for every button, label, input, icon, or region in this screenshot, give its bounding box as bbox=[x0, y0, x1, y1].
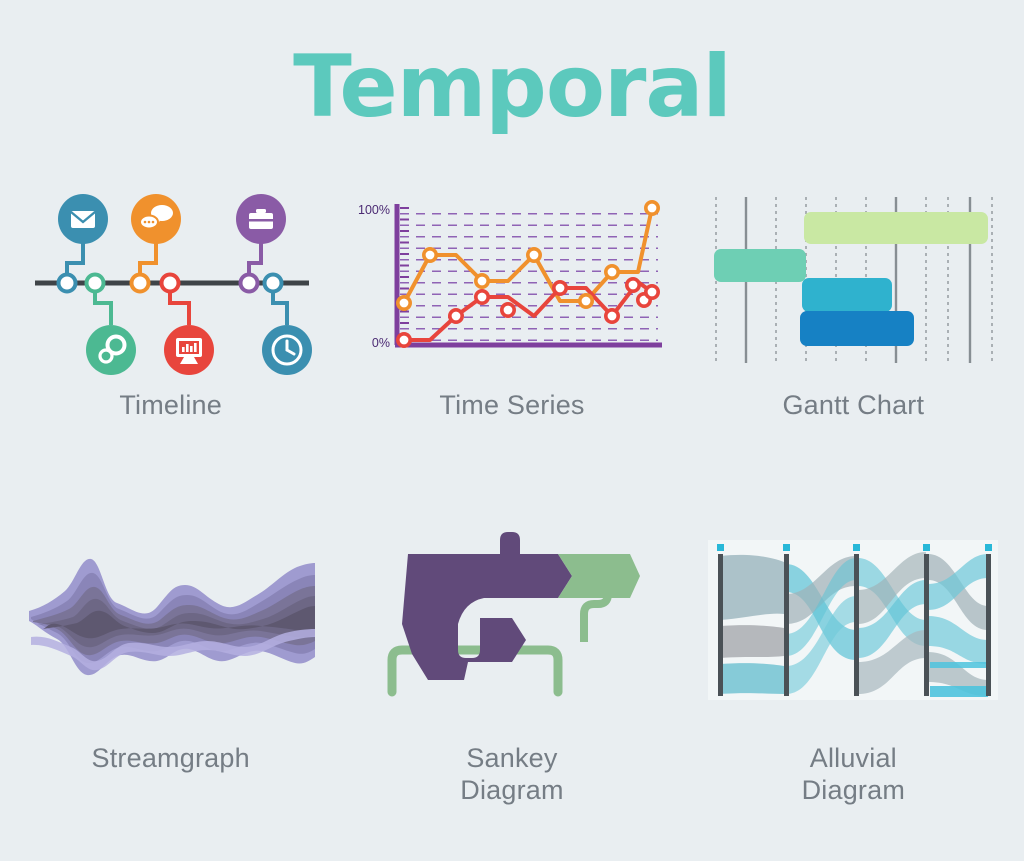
time-series-svg: 100% 0% bbox=[352, 190, 672, 370]
gantt-svg bbox=[708, 193, 998, 368]
caption-line-1: Sankey bbox=[460, 743, 563, 775]
caption-gantt-chart: Gantt Chart bbox=[782, 390, 924, 422]
alluvial-node-3[interactable] bbox=[854, 554, 859, 696]
caption-line-1: Alluvial bbox=[802, 743, 905, 775]
timeline-node-gears[interactable] bbox=[86, 325, 136, 375]
timeline-node-monitor[interactable] bbox=[164, 325, 214, 375]
card-timeline[interactable]: Timeline bbox=[0, 180, 341, 422]
timeline-node-clock[interactable] bbox=[262, 325, 312, 375]
visualization-grid: Timeline bbox=[0, 180, 1024, 807]
grid-row-2: Streamgraph Sankey Diagram bbox=[0, 517, 1024, 807]
gantt-bar-1[interactable] bbox=[804, 212, 988, 244]
timeline-dot-4[interactable] bbox=[161, 275, 178, 292]
sankey-flow-purple bbox=[402, 532, 572, 680]
timeline-art bbox=[11, 180, 331, 380]
streamgraph-svg bbox=[21, 537, 321, 707]
caption-alluvial-diagram: Alluvial Diagram bbox=[802, 743, 905, 807]
timeline-dot-1[interactable] bbox=[58, 275, 75, 292]
time-series-art: 100% 0% bbox=[352, 180, 672, 380]
caption-line-2: Diagram bbox=[802, 775, 905, 807]
caption-time-series: Time Series bbox=[439, 390, 584, 422]
timeline-dot-3[interactable] bbox=[131, 275, 148, 292]
page-title: Temporal bbox=[0, 0, 1024, 130]
timeline-dot-6[interactable] bbox=[264, 275, 281, 292]
timeline-svg bbox=[21, 185, 321, 375]
caption-timeline: Timeline bbox=[119, 390, 222, 422]
caption-line-1: Timeline bbox=[119, 390, 222, 422]
caption-streamgraph: Streamgraph bbox=[92, 743, 250, 775]
alluvial-node-2[interactable] bbox=[784, 554, 789, 696]
card-streamgraph[interactable]: Streamgraph bbox=[0, 517, 341, 807]
timeline-node-envelope[interactable] bbox=[58, 194, 108, 244]
sankey-art bbox=[352, 517, 672, 727]
sankey-svg bbox=[372, 532, 652, 712]
streamgraph-art bbox=[11, 517, 331, 727]
gantt-bar-4[interactable] bbox=[800, 311, 914, 346]
gantt-bar-2[interactable] bbox=[714, 249, 806, 282]
card-sankey-diagram[interactable]: Sankey Diagram bbox=[341, 517, 682, 807]
alluvial-art bbox=[693, 517, 1013, 727]
time-series-gridlines bbox=[400, 208, 658, 343]
grid-row-1: Timeline bbox=[0, 180, 1024, 422]
caption-line-1: Time Series bbox=[439, 390, 584, 422]
axis-label-max: 100% bbox=[358, 203, 390, 217]
caption-line-1: Streamgraph bbox=[92, 743, 250, 775]
card-gantt-chart[interactable]: Gantt Chart bbox=[683, 180, 1024, 422]
card-time-series[interactable]: 100% 0% bbox=[341, 180, 682, 422]
timeline-node-chat[interactable] bbox=[131, 194, 181, 244]
alluvial-node-1[interactable] bbox=[718, 554, 723, 696]
alluvial-svg bbox=[708, 534, 998, 709]
gantt-bar-3[interactable] bbox=[802, 278, 892, 312]
timeline-dot-5[interactable] bbox=[240, 275, 257, 292]
caption-line-1: Gantt Chart bbox=[782, 390, 924, 422]
gantt-art bbox=[693, 180, 1013, 380]
caption-line-2: Diagram bbox=[460, 775, 563, 807]
card-alluvial-diagram[interactable]: Alluvial Diagram bbox=[683, 517, 1024, 807]
caption-sankey-diagram: Sankey Diagram bbox=[460, 743, 563, 807]
timeline-dot-2[interactable] bbox=[86, 275, 103, 292]
axis-label-min: 0% bbox=[372, 336, 390, 350]
alluvial-node-5[interactable] bbox=[986, 554, 991, 696]
envelope-icon bbox=[71, 211, 95, 228]
alluvial-node-4[interactable] bbox=[924, 554, 929, 696]
timeline-node-briefcase[interactable] bbox=[236, 194, 286, 244]
